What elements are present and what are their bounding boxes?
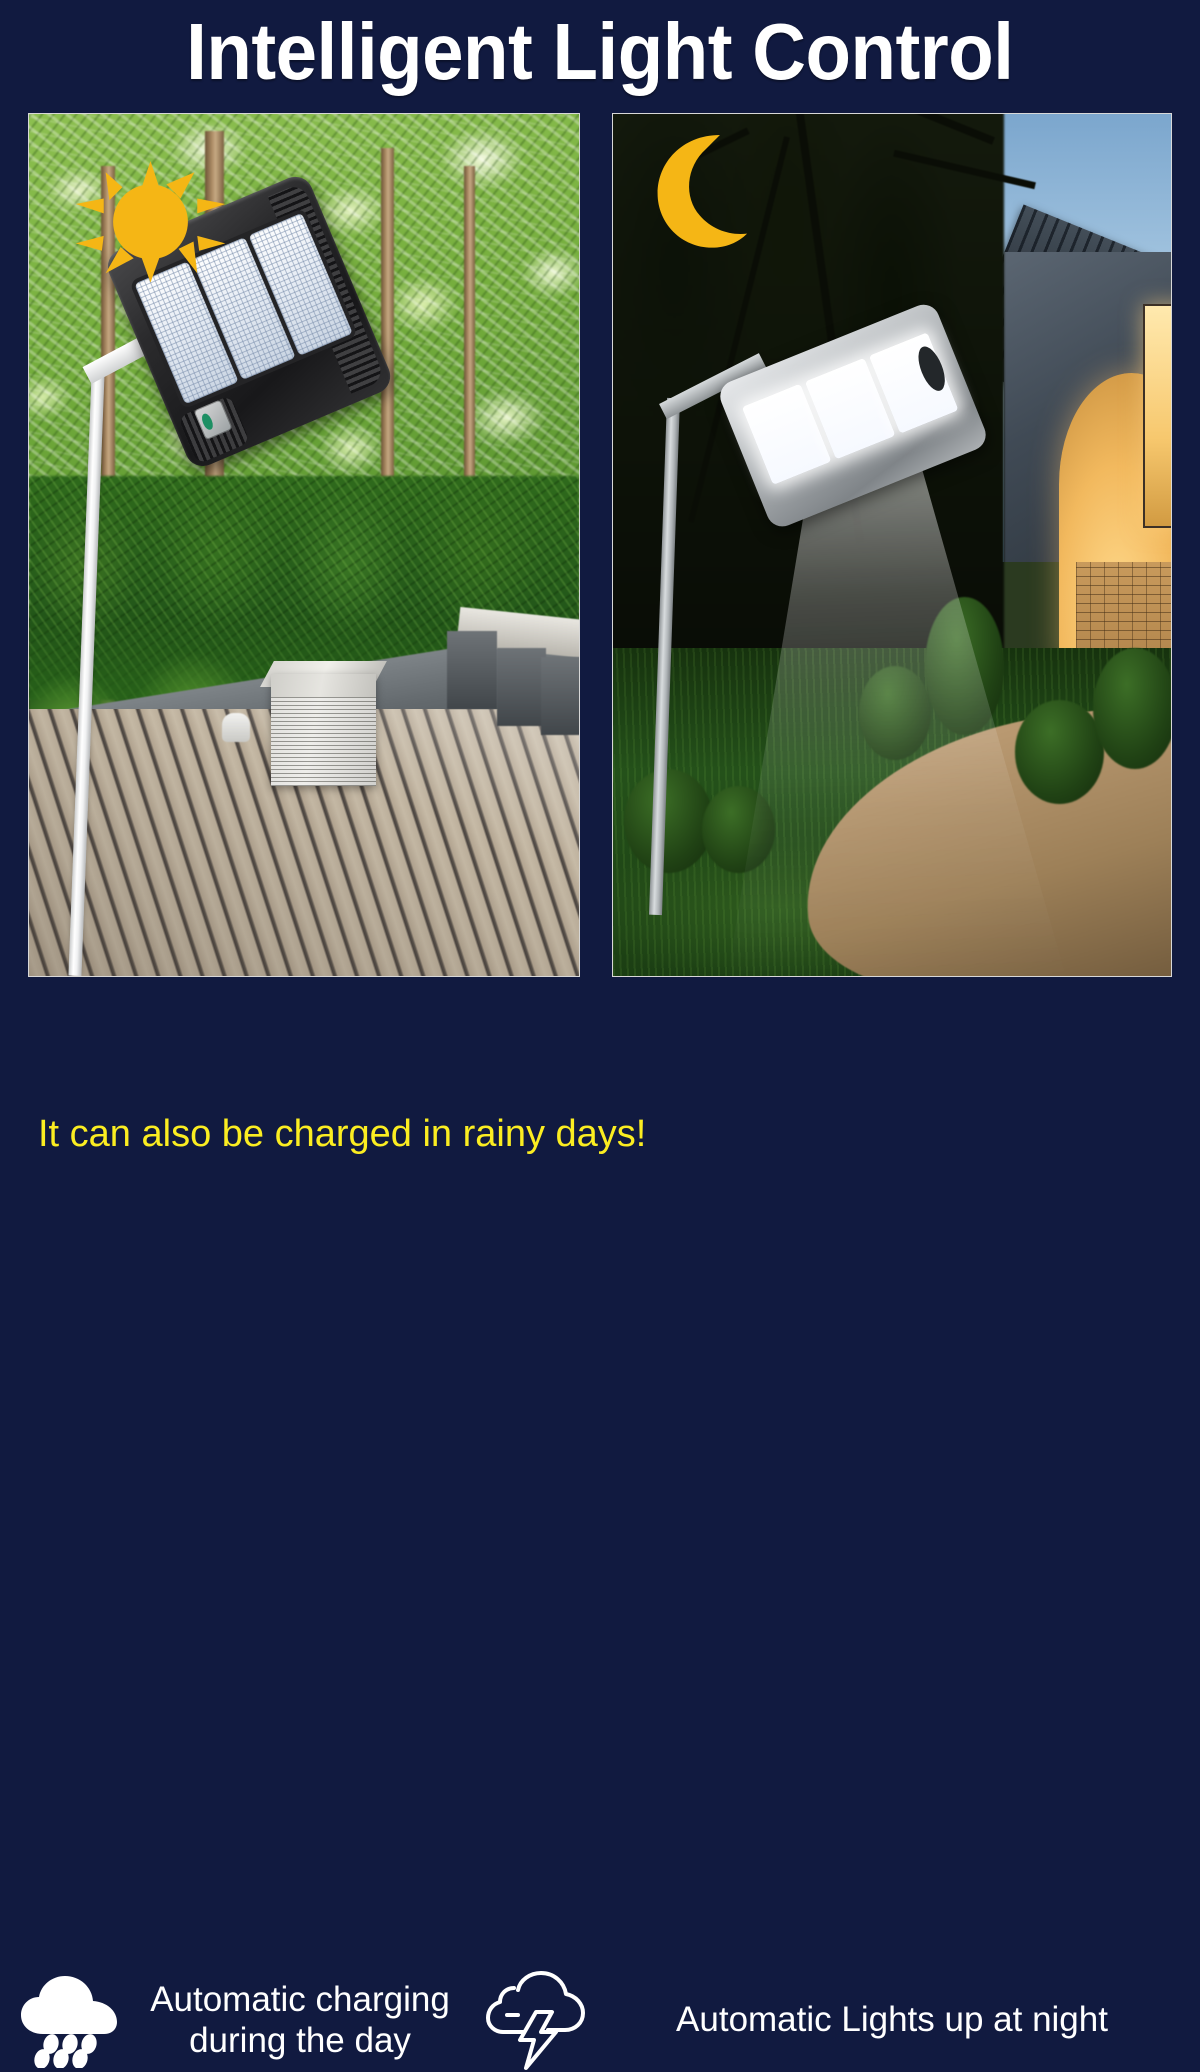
night-shrub [1093, 648, 1172, 769]
night-shrub [624, 769, 713, 872]
thunderstorm-cloud-icon [484, 1968, 588, 2072]
sun-icon [57, 127, 244, 317]
night-shrub [925, 597, 1003, 735]
caption-row: Automatic charging during the day Automa… [0, 980, 1200, 1092]
panel-day-photo [28, 113, 580, 977]
day-patio-chair [447, 631, 497, 709]
rain-cloud-icon [18, 1972, 122, 2068]
caption-night-text: Automatic Lights up at night [676, 1999, 1108, 2040]
rainy-days-note-text: It can also be charged in rainy days! [38, 1113, 646, 1156]
page-title: Intelligent Light Control [186, 12, 1013, 92]
night-shrub [1015, 700, 1104, 803]
moon-icon [641, 131, 753, 252]
night-shrub [702, 786, 775, 872]
rainy-days-note: It can also be charged in rainy days! [38, 1108, 738, 1160]
day-ground-light-fixture [222, 713, 251, 742]
title-bar: Intelligent Light Control [0, 0, 1200, 104]
day-patio-chair [497, 648, 547, 726]
caption-day-text: Automatic charging during the day [120, 1979, 480, 2062]
day-ac-unit-fins [271, 697, 376, 787]
caption-night: Automatic Lights up at night [612, 1972, 1172, 2068]
night-lit-window [1143, 304, 1172, 528]
panel-night-photo [612, 113, 1172, 977]
night-shrub [859, 666, 932, 761]
caption-day: Automatic charging during the day [120, 1972, 480, 2068]
day-patio-chair [541, 657, 581, 735]
